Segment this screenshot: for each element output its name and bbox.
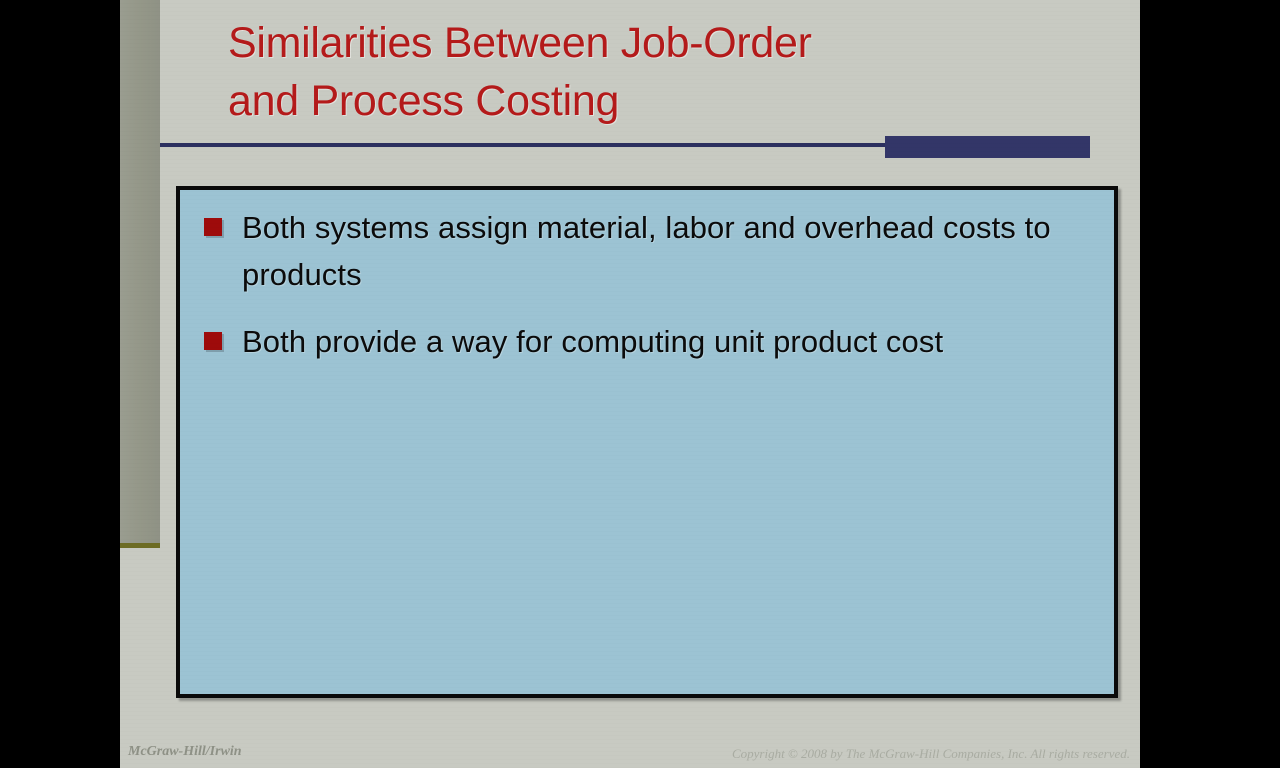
- side-decoration-band-cap: [120, 543, 160, 548]
- content-panel: Both systems assign material, labor and …: [176, 186, 1118, 698]
- footer-copyright-label: Copyright © 2008 by The McGraw-Hill Comp…: [732, 746, 1130, 762]
- list-item: Both systems assign material, labor and …: [192, 204, 1104, 298]
- slide-canvas: Similarities Between Job-Order and Proce…: [120, 0, 1140, 768]
- square-bullet-icon: [204, 218, 222, 236]
- bullet-list: Both systems assign material, labor and …: [192, 204, 1104, 385]
- list-item-text: Both provide a way for computing unit pr…: [242, 324, 943, 359]
- list-item: Both provide a way for computing unit pr…: [192, 318, 1104, 365]
- side-decoration-band: [120, 0, 160, 543]
- slide-title: Similarities Between Job-Order and Proce…: [228, 14, 1028, 130]
- title-accent-block: [885, 136, 1090, 158]
- square-bullet-icon: [204, 332, 222, 350]
- list-item-text: Both systems assign material, labor and …: [242, 210, 1051, 292]
- presentation-viewport: Similarities Between Job-Order and Proce…: [0, 0, 1280, 768]
- footer-publisher-label: McGraw-Hill/Irwin: [128, 744, 242, 760]
